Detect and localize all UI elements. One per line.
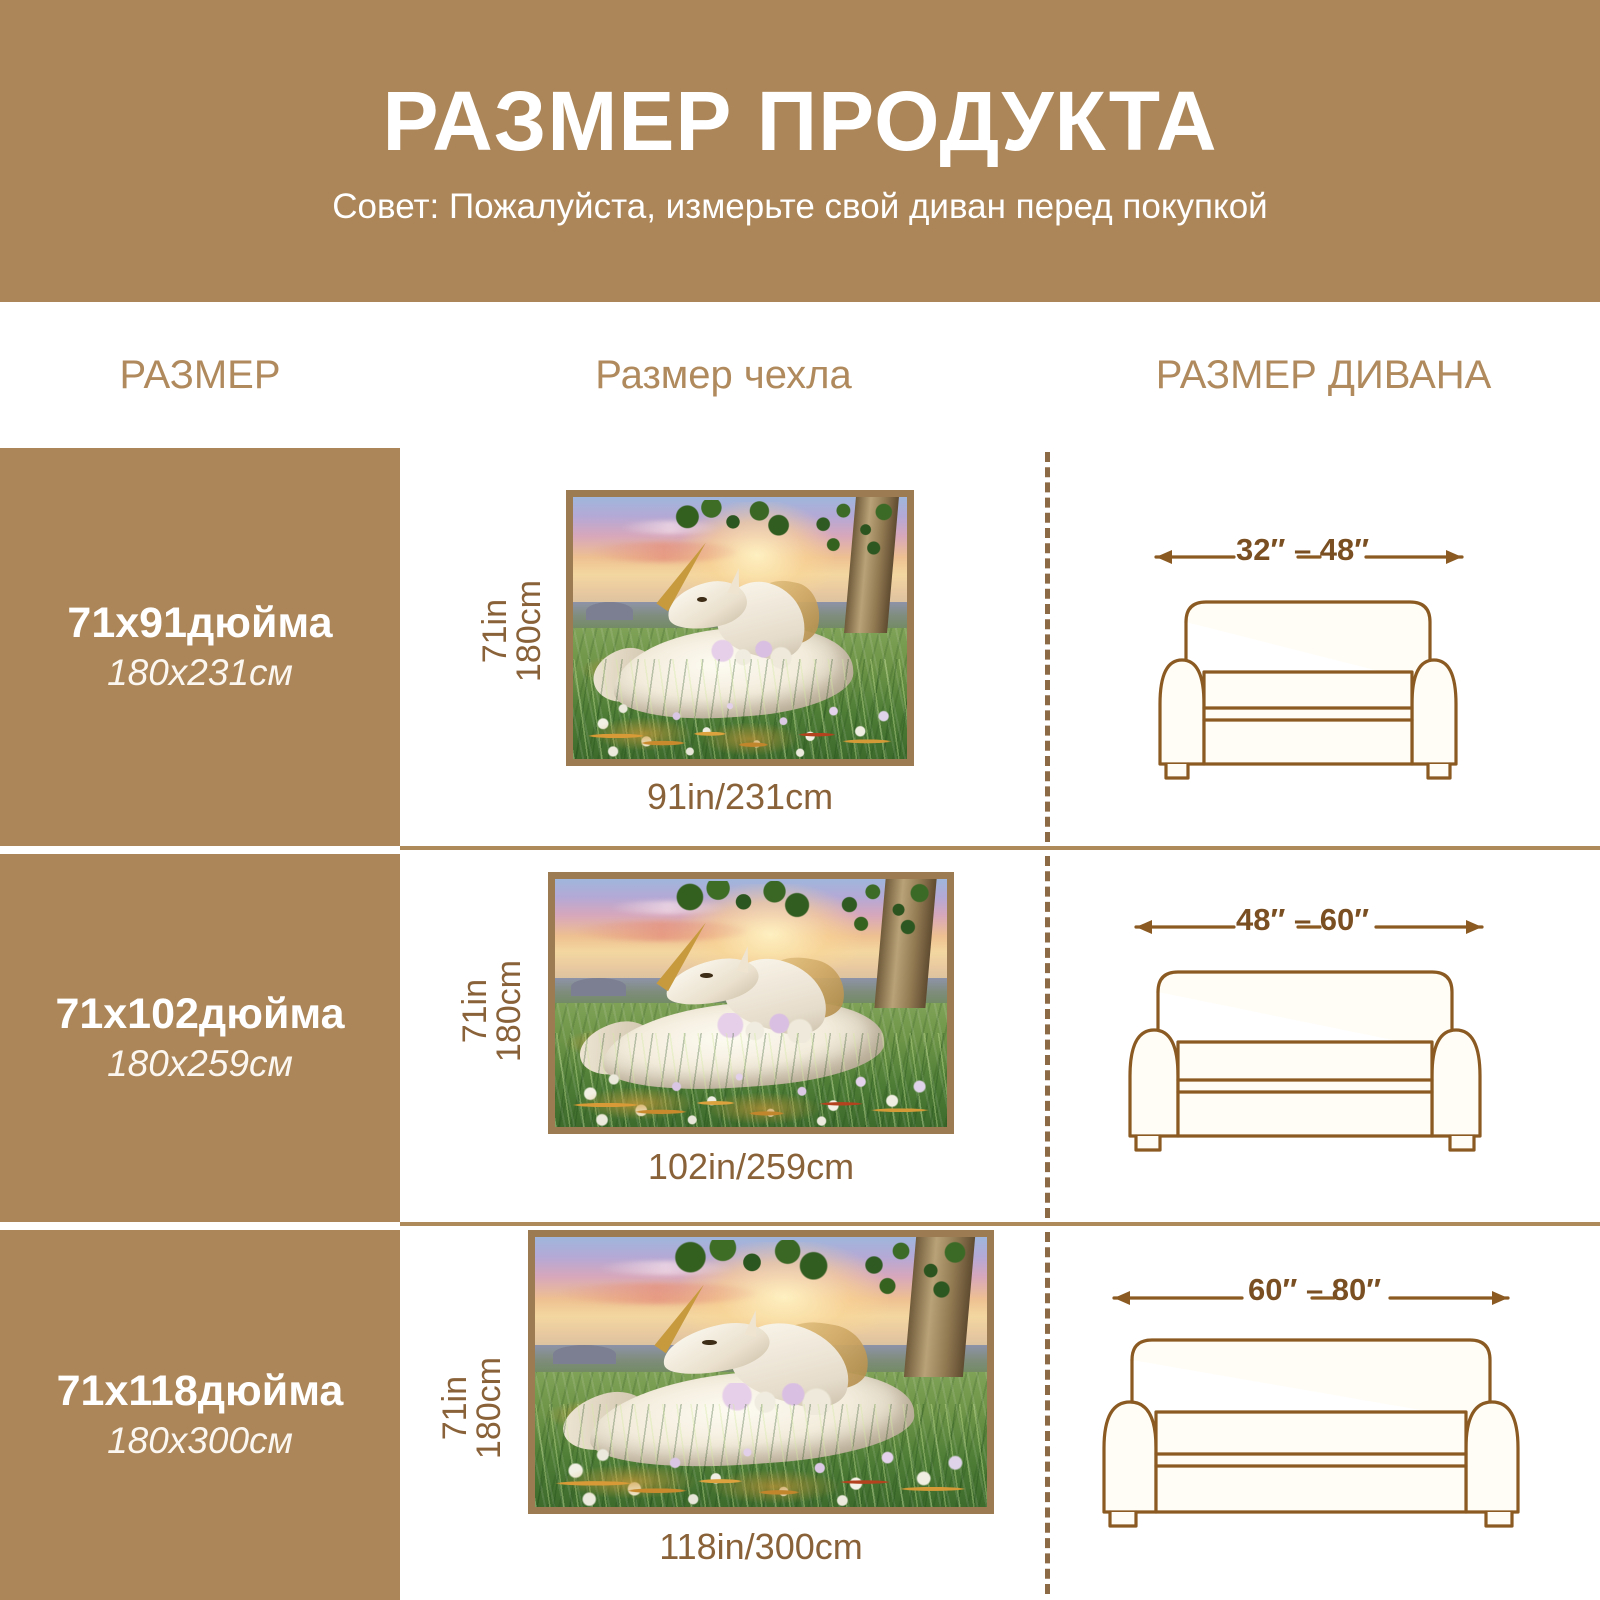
size-inches-row-2: 71x102дюйма — [55, 992, 344, 1037]
cover-height-cm-row-3: 180cm — [472, 1357, 506, 1459]
artwork-branch — [673, 881, 814, 921]
cover-height-inches-row-3: 71in — [438, 1376, 472, 1440]
artwork-tree-foliage — [826, 879, 944, 943]
artwork-mushrooms — [555, 1087, 947, 1127]
artwork-mushrooms — [573, 717, 907, 759]
cover-width-label-row-2: 102in/259cm — [548, 1146, 954, 1188]
artwork-unicorn-eye — [697, 597, 708, 603]
cover-height-labels-row-1: 71in 180cm — [462, 496, 562, 766]
cover-height-labels-row-3: 71in 180cm — [422, 1298, 522, 1518]
cover-height-inches-row-2: 71in — [458, 979, 492, 1043]
artwork-hill-peak — [571, 978, 626, 995]
artwork-tree-foliage — [803, 497, 903, 565]
page-header: РАЗМЕР ПРОДУКТА Совет: Пожалуйста, измер… — [0, 0, 1600, 302]
artwork-hill-peak — [586, 602, 633, 620]
column-header-row: РАЗМЕР Размер чехла РАЗМЕР ДИВАНА — [0, 302, 1600, 448]
size-cm-row-1: 180x231см — [107, 654, 293, 693]
cover-width-label-row-1: 91in/231cm — [566, 776, 914, 818]
size-cm-row-2: 180x259см — [107, 1045, 293, 1084]
size-inches-row-1: 71x91дюйма — [67, 601, 332, 646]
cover-artwork-row-3 — [528, 1230, 994, 1514]
page-title: РАЗМЕР ПРОДУКТА — [383, 79, 1218, 163]
artwork-tree-foliage — [847, 1237, 983, 1307]
artwork-mushrooms — [535, 1464, 987, 1507]
cover-height-cm-row-1: 180cm — [512, 580, 546, 682]
sofa-dimension-row-3: 60″ – 80″ — [1248, 1272, 1381, 1308]
sofa-diagram-row-1: 32″ – 48″ — [1130, 522, 1490, 790]
artwork-hill-peak — [553, 1345, 616, 1364]
cover-height-labels-row-2: 71in 180cm — [442, 886, 542, 1136]
size-inches-row-3: 71x118дюйма — [57, 1369, 344, 1414]
size-block-row-3: 71x118дюйма 180x300см — [0, 1230, 400, 1600]
cover-height-cm-row-2: 180cm — [492, 960, 526, 1062]
size-block-row-1: 71x91дюйма 180x231см — [0, 448, 400, 846]
sofa-dimension-row-1: 32″ – 48″ — [1236, 532, 1369, 568]
size-block-row-2: 71x102дюйма 180x259см — [0, 854, 400, 1222]
cover-cell-row-3: 71in 180cm 118in/300cm — [400, 1230, 1047, 1600]
cover-width-label-row-3: 118in/300cm — [528, 1526, 994, 1568]
column-header-size: РАЗМЕР — [0, 302, 400, 448]
cover-cell-row-1: 71in 180cm 91in/231cm — [400, 448, 1047, 846]
sofa-dimension-row-2: 48″ – 60″ — [1236, 902, 1369, 938]
sofa-diagram-row-3: 60″ – 80″ — [1090, 1262, 1530, 1537]
size-cm-row-3: 180x300см — [107, 1422, 293, 1461]
artwork-cloud — [575, 921, 747, 941]
page-subtitle: Совет: Пожалуйста, измерьте свой диван п… — [332, 189, 1267, 224]
column-header-sofa-size: РАЗМЕР ДИВАНА — [1047, 302, 1600, 448]
row-separator-1 — [400, 846, 1600, 850]
row-separator-2 — [400, 1222, 1600, 1226]
artwork-branch — [673, 500, 793, 542]
artwork-branch — [671, 1240, 834, 1283]
sofa-diagram-row-2: 48″ – 60″ — [1110, 892, 1510, 1160]
cover-height-inches-row-1: 71in — [478, 599, 512, 663]
cover-artwork-row-1 — [566, 490, 914, 766]
artwork-unicorn-eye — [702, 1340, 716, 1346]
column-header-cover-size: Размер чехла — [400, 302, 1047, 448]
cover-artwork-row-2 — [548, 872, 954, 1134]
cover-cell-row-2: 71in 180cm 102in/259cm — [400, 854, 1047, 1222]
